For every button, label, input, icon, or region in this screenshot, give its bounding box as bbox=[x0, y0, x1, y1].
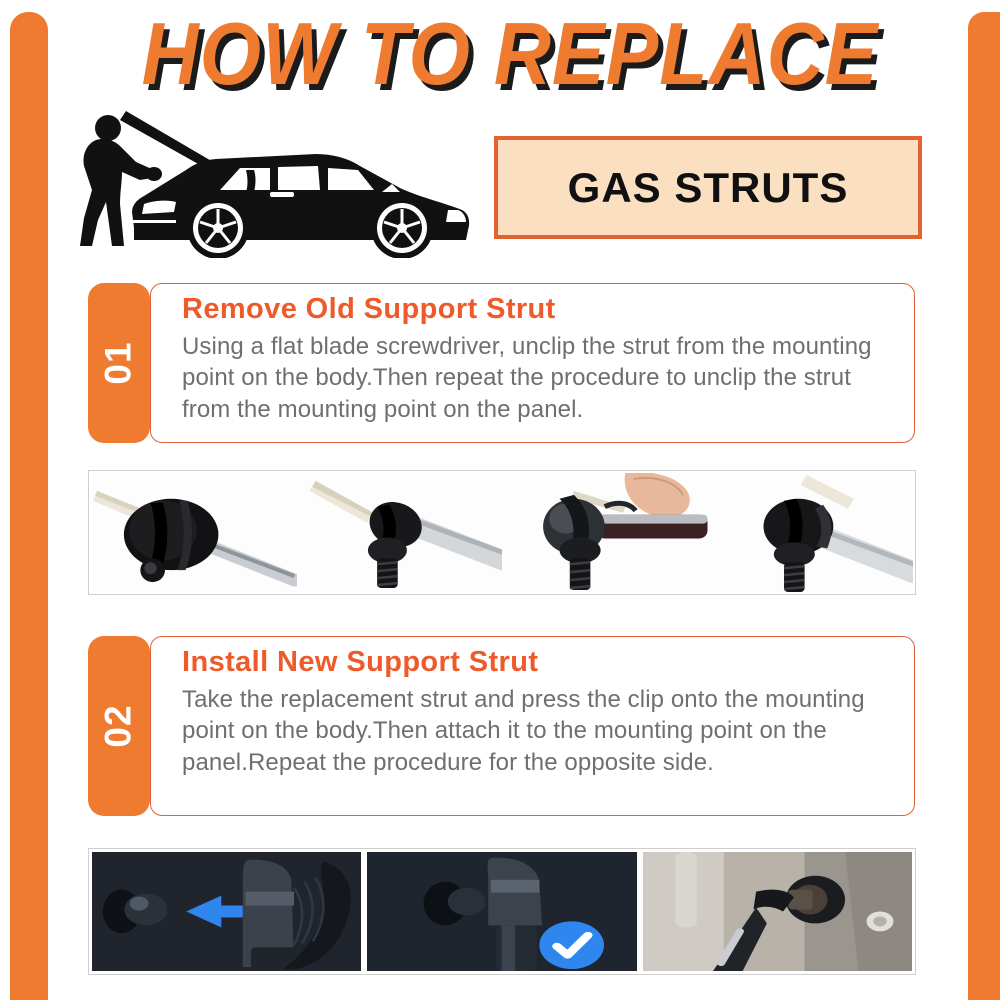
check-circle bbox=[540, 921, 605, 969]
page-title-text: HOW TO REPLACE bbox=[142, 2, 879, 105]
car-hood-illustration bbox=[70, 108, 490, 258]
photo-installed-strut bbox=[643, 852, 912, 971]
photo-clip-on-strut bbox=[91, 473, 297, 592]
step-heading-02: Install New Support Strut bbox=[182, 645, 976, 680]
step-heading-01: Remove Old Support Strut bbox=[182, 292, 976, 327]
car-silhouette-icon bbox=[70, 108, 490, 258]
step-text-01: Using a flat blade screwdriver, unclip t… bbox=[182, 331, 882, 426]
step-text-02: Take the replacement strut and press the… bbox=[182, 684, 882, 779]
decorative-right-orange-bar bbox=[968, 12, 1000, 1000]
photo-strip-step-02 bbox=[88, 848, 916, 975]
photo-strut-seated-confirmed bbox=[367, 852, 636, 971]
step-number-01: 01 bbox=[98, 341, 140, 384]
step-number-02: 02 bbox=[98, 704, 140, 747]
photo-screwdriver-prying-clip bbox=[297, 473, 503, 592]
product-badge: GAS STRUTS bbox=[494, 136, 922, 239]
photo-finger-removing-clip bbox=[502, 473, 708, 592]
step-number-tab-01: 01 bbox=[88, 283, 150, 443]
step-content-02: Install New Support Strut Take the repla… bbox=[182, 645, 976, 779]
page-title: HOW TO REPLACE bbox=[80, 6, 940, 102]
decorative-left-orange-bar bbox=[10, 12, 48, 1000]
infographic-page: HOW TO REPLACE bbox=[0, 0, 1000, 1000]
hero-section: GAS STRUTS bbox=[70, 108, 940, 258]
product-badge-label: GAS STRUTS bbox=[568, 164, 849, 212]
step-number-tab-02: 02 bbox=[88, 636, 150, 816]
photo-strip-step-01 bbox=[88, 470, 916, 595]
photo-gloved-hand-pressing-clip bbox=[92, 852, 361, 971]
step-content-01: Remove Old Support Strut Using a flat bl… bbox=[182, 292, 976, 426]
photo-clip-detached bbox=[708, 473, 914, 592]
